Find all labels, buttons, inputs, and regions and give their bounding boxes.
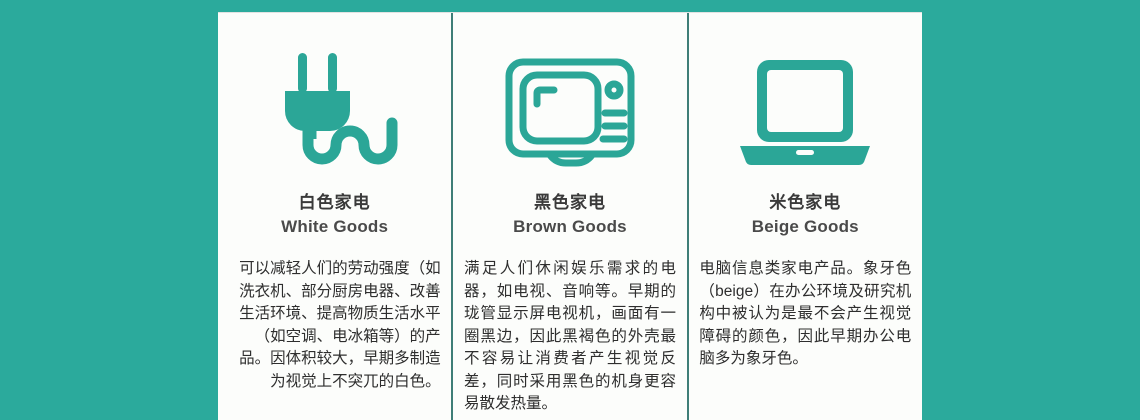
title-english: Brown Goods — [513, 217, 627, 237]
title-chinese: 米色家电 — [752, 193, 859, 213]
crt-television-icon — [453, 13, 686, 193]
title-english: White Goods — [281, 217, 388, 237]
infographic-stage: 白色家电 White Goods 可以减轻人们的劳动强度（如洗衣机、部分厨房电器… — [0, 0, 1140, 420]
category-column-beige-goods: 米色家电 Beige Goods 电脑信息类家电产品。象牙色（beige）在办公… — [687, 13, 922, 420]
laptop-computer-icon — [689, 13, 922, 193]
category-titles: 黑色家电 Brown Goods — [513, 193, 627, 236]
category-column-white-goods: 白色家电 White Goods 可以减轻人们的劳动强度（如洗衣机、部分厨房电器… — [218, 13, 451, 420]
title-chinese: 白色家电 — [281, 193, 388, 213]
category-titles: 白色家电 White Goods — [281, 193, 388, 236]
three-column-card: 白色家电 White Goods 可以减轻人们的劳动强度（如洗衣机、部分厨房电器… — [218, 12, 922, 420]
category-description: 电脑信息类家电产品。象牙色（beige）在办公环境及研究机构中被认为是最不会产生… — [699, 258, 911, 371]
category-titles: 米色家电 Beige Goods — [752, 193, 859, 236]
title-english: Beige Goods — [752, 217, 859, 237]
category-column-brown-goods: 黑色家电 Brown Goods 满足人们休闲娱乐需求的电器，如电视、音响等。早… — [451, 13, 686, 420]
title-chinese: 黑色家电 — [513, 193, 627, 213]
power-plug-icon — [218, 13, 451, 193]
category-description: 满足人们休闲娱乐需求的电器，如电视、音响等。早期的珑管显示屏电视机，画面有一圈黑… — [464, 258, 676, 416]
category-description: 可以减轻人们的劳动强度（如洗衣机、部分厨房电器、改善生活环境、提高物质生活水平（… — [229, 258, 441, 393]
